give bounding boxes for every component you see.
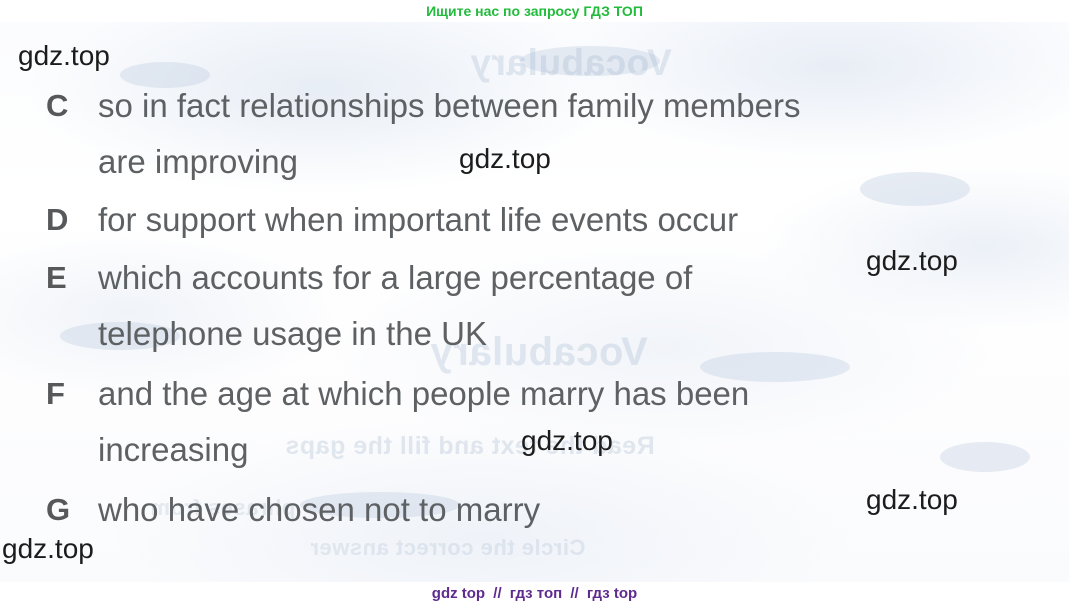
option-row-e: E which accounts for a large percentage … [46, 250, 1006, 362]
option-letter-c: C [46, 78, 98, 134]
watermark-bottom-left: gdz.top [2, 533, 94, 565]
watermark-mid-center: gdz.top [521, 425, 613, 457]
option-letter-e: E [46, 250, 98, 306]
promo-bottom-part-2: гдз top [587, 585, 637, 602]
option-text-f: and the age at which people marry has be… [98, 366, 1006, 478]
watermark-upper-center: gdz.top [459, 143, 551, 175]
watermark-top-left: gdz.top [18, 40, 110, 72]
promo-separator-0: // [489, 585, 505, 602]
option-letter-d: D [46, 192, 98, 248]
option-text-c: so in fact relationships between family … [98, 78, 1006, 190]
watermark-lower-right: gdz.top [866, 484, 958, 516]
promo-separator-1: // [566, 585, 582, 602]
option-letter-f: F [46, 366, 98, 422]
promo-banner-bottom: gdz top // гдз топ // гдз top [0, 583, 1069, 605]
promo-bottom-part-0: gdz top [432, 585, 485, 602]
option-row-f: F and the age at which people marry has … [46, 366, 1006, 478]
scanned-worksheet-page: Vocabulary Vocabulary Read the text and … [0, 0, 1069, 607]
promo-bottom-part-1: гдз топ [510, 585, 562, 602]
option-row-g: G who have chosen not to marry [46, 482, 1006, 538]
option-row-d: D for support when important life events… [46, 192, 1006, 248]
option-letter-g: G [46, 482, 98, 538]
option-text-d: for support when important life events o… [98, 192, 1006, 248]
watermark-upper-right: gdz.top [866, 245, 958, 277]
